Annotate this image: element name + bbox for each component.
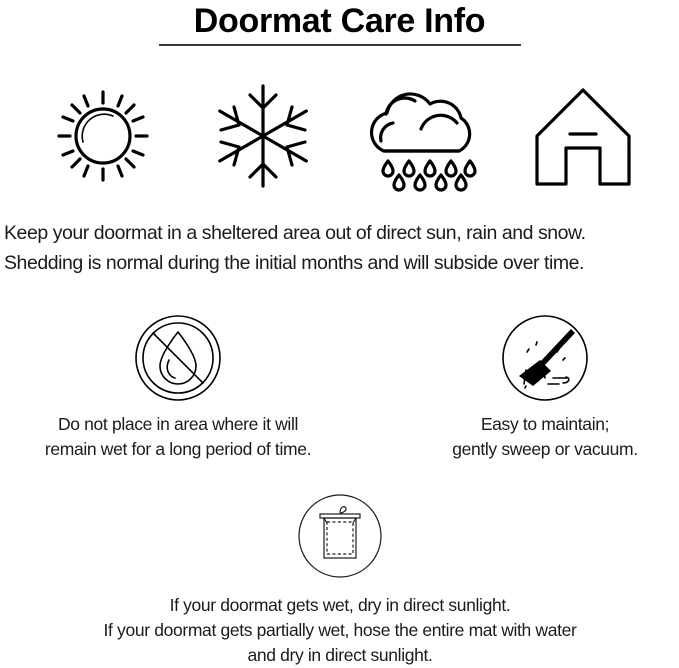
title-underline-rule [159,44,521,46]
page-title: Doormat Care Info [0,0,679,41]
care-item-no-water: Do not place in area where it will remai… [8,312,348,462]
care-item-sweep: Easy to maintain; gently sweep or vacuum… [420,312,670,462]
snowflake-icon [183,72,343,196]
care-item-no-water-caption: Do not place in area where it will remai… [8,412,348,462]
care-item-dry: If your doormat gets wet, dry in direct … [40,492,640,668]
caption-line-1: Easy to maintain; [420,412,670,437]
drip-dry-hanger-icon [40,492,640,584]
rain-cloud-icon [343,72,503,196]
intro-line-1: Keep your doormat in a sheltered area ou… [4,218,679,248]
sun-icon [23,72,183,196]
caption-line-2: If your doormat gets partially wet, hose… [40,618,640,643]
care-item-dry-caption: If your doormat gets wet, dry in direct … [40,593,640,668]
caption-line-1: If your doormat gets wet, dry in direct … [40,593,640,618]
care-item-sweep-caption: Easy to maintain; gently sweep or vacuum… [420,412,670,462]
no-water-icon [8,312,348,404]
caption-line-2: remain wet for a long period of time. [8,437,348,462]
weather-icon-row [0,72,679,196]
caption-line-1: Do not place in area where it will [8,412,348,437]
caption-line-3: and dry in direct sunlight. [40,643,640,668]
broom-icon [420,312,670,404]
page-header: Doormat Care Info [0,0,679,46]
caption-line-2: gently sweep or vacuum. [420,437,670,462]
intro-paragraph: Keep your doormat in a sheltered area ou… [4,218,679,278]
house-icon [503,72,663,196]
intro-line-2: Shedding is normal during the initial mo… [4,248,679,278]
